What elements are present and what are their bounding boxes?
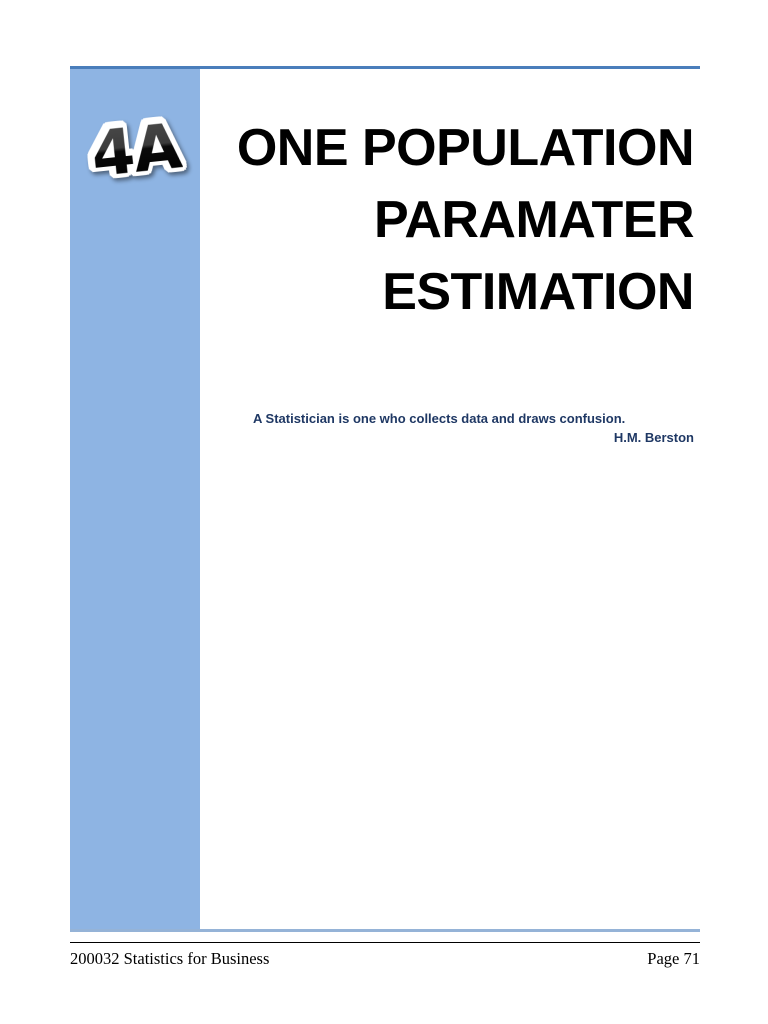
main-column: ONE POPULATION PARAMATER ESTIMATION A St…: [200, 69, 700, 929]
page-footer: 200032 Statistics for Business Page 71: [70, 942, 700, 969]
footer-page-number: Page 71: [647, 949, 700, 969]
page-title-line-3: ESTIMATION: [200, 256, 694, 328]
content-area: 4A ONE POPULATION PARAMATER ESTIMATION A…: [70, 66, 700, 932]
quote-author: H.M. Berston: [200, 428, 694, 447]
chapter-badge: 4A: [72, 105, 200, 197]
chapter-sidebar: 4A: [70, 69, 200, 929]
quote-text: A Statistician is one who collects data …: [200, 409, 694, 428]
page-title: ONE POPULATION PARAMATER ESTIMATION: [200, 112, 697, 328]
page-title-line-1: ONE POPULATION: [200, 112, 694, 184]
chapter-badge-label: 4A: [88, 116, 183, 187]
page-title-line-2: PARAMATER: [200, 184, 694, 256]
footer-course-label: 200032 Statistics for Business: [70, 949, 269, 969]
document-page: 4A ONE POPULATION PARAMATER ESTIMATION A…: [0, 0, 768, 1024]
epigraph-quote: A Statistician is one who collects data …: [200, 409, 697, 447]
